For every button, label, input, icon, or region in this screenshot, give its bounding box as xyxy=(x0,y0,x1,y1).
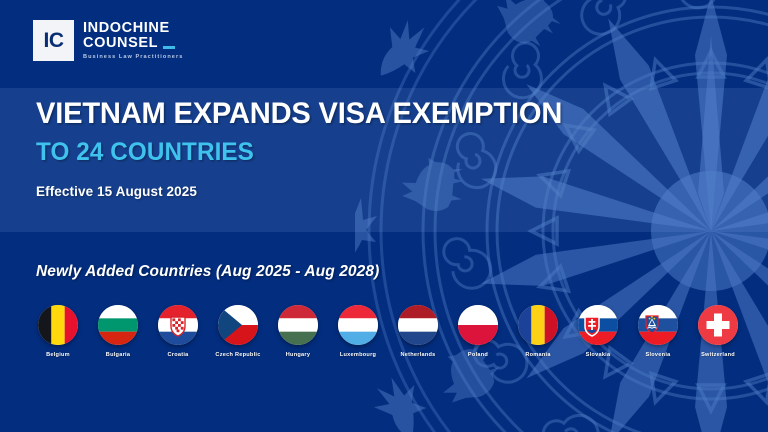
flag-label: Slovakia xyxy=(586,352,611,358)
flag-poland-icon xyxy=(458,305,498,345)
logo-tagline: Business Law Practitioners xyxy=(83,55,183,61)
effective-date-text: Effective 15 August 2025 xyxy=(36,184,578,199)
flag-croatia-icon xyxy=(158,305,198,345)
logo-name-line2: COUNSEL xyxy=(83,36,158,51)
flag-bulgaria-icon xyxy=(98,305,138,345)
flag-label: Luxembourg xyxy=(340,352,376,358)
flag-label: Croatia xyxy=(167,352,188,358)
flag-label: Switzerland xyxy=(701,352,735,358)
flag-czech-republic-icon xyxy=(218,305,258,345)
flag-item-czech-republic: Czech Republic xyxy=(212,305,264,358)
visa-exemption-banner: IC INDOCHINE COUNSEL Business Law Practi… xyxy=(0,0,768,432)
flag-label: Hungary xyxy=(286,352,310,358)
flag-label: Belgium xyxy=(46,352,70,358)
flag-label: Czech Republic xyxy=(215,352,260,358)
flag-switzerland-icon xyxy=(698,305,738,345)
logo-mark-icon: IC xyxy=(33,20,74,61)
logo-name-row2: COUNSEL xyxy=(83,36,183,51)
brand-logo: IC INDOCHINE COUNSEL Business Law Practi… xyxy=(33,20,183,61)
logo-accent-dash-icon xyxy=(163,46,175,49)
flag-label: Netherlands xyxy=(400,352,435,358)
flag-item-poland: Poland xyxy=(452,305,504,358)
flag-item-netherlands: Netherlands xyxy=(392,305,444,358)
flag-item-slovenia: Slovenia xyxy=(632,305,684,358)
flag-item-luxembourg: Luxembourg xyxy=(332,305,384,358)
flag-hungary-icon xyxy=(278,305,318,345)
flag-label: Poland xyxy=(468,352,488,358)
flag-slovenia-icon xyxy=(638,305,678,345)
section-heading: Newly Added Countries (Aug 2025 - Aug 20… xyxy=(36,263,379,281)
flag-label: Romania xyxy=(525,352,550,358)
logo-name-line1: INDOCHINE xyxy=(83,21,183,36)
flag-item-switzerland: Switzerland xyxy=(692,305,744,358)
flag-luxembourg-icon xyxy=(338,305,378,345)
logo-wordmark: INDOCHINE COUNSEL Business Law Practitio… xyxy=(83,21,183,60)
flag-item-belgium: Belgium xyxy=(32,305,84,358)
flag-item-slovakia: Slovakia xyxy=(572,305,624,358)
flag-belgium-icon xyxy=(38,305,78,345)
flag-label: Slovenia xyxy=(645,352,670,358)
flag-romania-icon xyxy=(518,305,558,345)
country-flags-row: Belgium Bulgaria xyxy=(32,305,744,358)
headline-block: VIETNAM EXPANDS VISA EXEMPTION TO 24 COU… xyxy=(36,98,578,199)
logo-mark-text: IC xyxy=(44,30,64,51)
page-title: VIETNAM EXPANDS VISA EXEMPTION xyxy=(36,98,562,130)
flag-label: Bulgaria xyxy=(106,352,130,358)
page-subtitle: TO 24 COUNTRIES xyxy=(36,139,562,165)
flag-slovakia-icon xyxy=(578,305,618,345)
flag-netherlands-icon xyxy=(398,305,438,345)
flag-item-bulgaria: Bulgaria xyxy=(92,305,144,358)
flag-item-hungary: Hungary xyxy=(272,305,324,358)
flag-item-croatia: Croatia xyxy=(152,305,204,358)
flag-item-romania: Romania xyxy=(512,305,564,358)
